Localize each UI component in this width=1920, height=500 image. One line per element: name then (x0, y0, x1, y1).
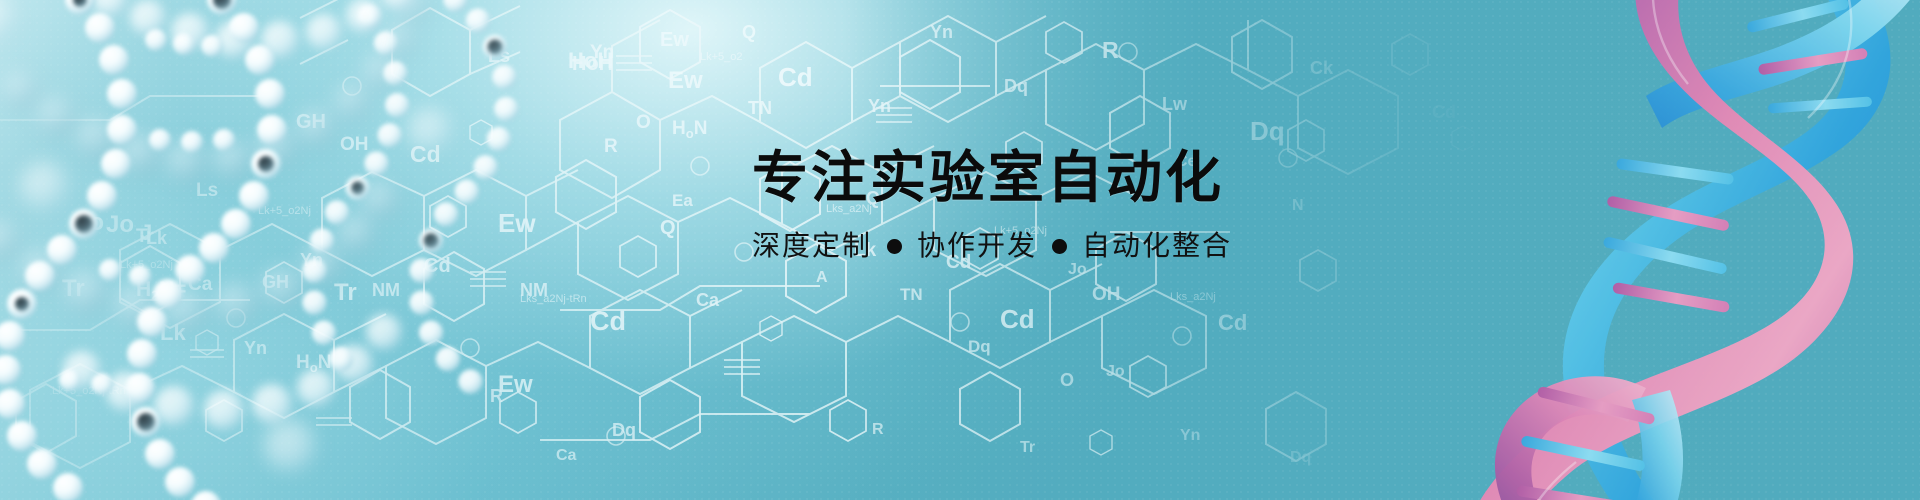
ribbon-dna-helix (1370, 0, 1920, 500)
svg-text:OH: OH (1092, 284, 1121, 305)
subtitle-item-3: 自动化整合 (1082, 229, 1232, 263)
svg-text:Dq: Dq (1004, 76, 1028, 96)
svg-text:A: A (816, 269, 828, 286)
svg-text:Dq: Dq (1290, 449, 1311, 466)
svg-text:R: R (872, 421, 884, 438)
svg-text:Yn: Yn (930, 22, 953, 42)
svg-text:Lw: Lw (1162, 94, 1188, 114)
svg-text:Tr: Tr (1020, 439, 1035, 456)
svg-text:Dq: Dq (1250, 116, 1285, 146)
lab-automation-hero-banner: Cd R Dq Cd Ew Tr Jo Tr . Ew Cd Cd Ew Cd … (0, 0, 1920, 500)
svg-text:Yn: Yn (1180, 427, 1200, 444)
svg-text:Lks_a2Nj: Lks_a2Nj (1170, 291, 1216, 303)
page-title: 专注实验室自动化 (752, 148, 1392, 207)
svg-text:R: R (1102, 37, 1119, 63)
svg-text:Yn: Yn (868, 96, 891, 116)
separator-dot-icon (1052, 239, 1067, 254)
svg-text:Cd: Cd (1218, 310, 1247, 335)
svg-text:Jo: Jo (1106, 363, 1125, 380)
svg-text:Dq: Dq (968, 337, 991, 356)
subtitle-item-2: 协作开发 (917, 229, 1037, 263)
subtitle-line: 深度定制 协作开发 自动化整合 (752, 229, 1392, 263)
svg-text:Jo: Jo (1068, 261, 1087, 278)
svg-text:Cd: Cd (778, 62, 813, 92)
beaded-dna-helix (0, 0, 780, 500)
subtitle-item-1: 深度定制 (752, 229, 872, 263)
svg-text:Cd: Cd (1000, 304, 1035, 334)
hero-copy: 专注实验室自动化 深度定制 协作开发 自动化整合 (752, 148, 1392, 263)
separator-dot-icon (887, 239, 902, 254)
svg-text:O: O (1060, 370, 1074, 390)
svg-text:TN: TN (900, 285, 923, 304)
svg-text:Ck: Ck (1310, 58, 1334, 78)
